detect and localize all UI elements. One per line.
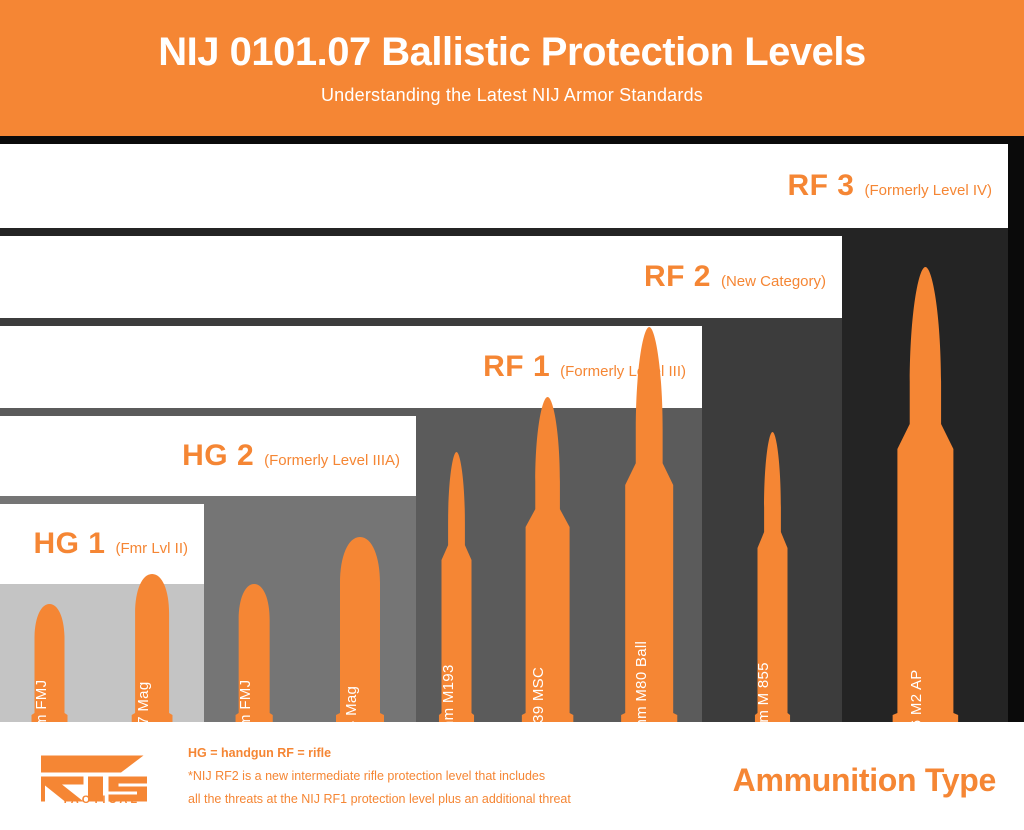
logo-subtext: TACTICAL [36,794,166,806]
bullet-hg1-0: 9mm FMJ [28,604,71,722]
bullet-hg1-1: .357 Mag [128,574,176,722]
bullet-rf1-2: 7.62x51mm M80 Ball [616,327,682,722]
top-divider-band [0,136,1024,144]
bullet-rf3-0: 30.06 M2 AP [887,267,964,722]
bullet-rf2-0: 5.56mm M 855 [751,432,794,722]
bullet-rf1-1: 7.62x39 MSC [517,397,578,722]
right-gutter [1008,136,1024,722]
bullet-group-rf1: 5.56mm M1937.62x39 MSC7.62x51mm M80 Ball [416,136,702,722]
header-banner: NIJ 0101.07 Ballistic Protection Levels … [0,0,1024,136]
legend-note-line-2: all the threats at the NIJ RF1 protectio… [188,788,571,811]
legend-block: HG = handgun RF = rifle *NIJ RF2 is a ne… [188,742,571,811]
x-axis-title: Ammunition Type [733,762,996,799]
legend-abbreviations: HG = handgun RF = rifle [188,742,571,765]
legend-note-line-1: *NIJ RF2 is a new intermediate rifle pro… [188,765,571,788]
page-subtitle: Understanding the Latest NIJ Armor Stand… [321,85,703,106]
ballistic-levels-chart: RF 3(Formerly Level IV)RF 2(New Category… [0,136,1024,722]
bullet-group-rf2: 5.56mm M 855 [702,136,842,722]
bullet-rf1-0: 5.56mm M193 [435,452,478,722]
bullet-group-hg1: 9mm FMJ.357 Mag [0,136,204,722]
footer: TACTICAL HG = handgun RF = rifle *NIJ RF… [0,722,1024,830]
bullet-hg2-0: 9mm FMJ [232,584,276,722]
page-title: NIJ 0101.07 Ballistic Protection Levels [158,31,866,73]
bullet-group-rf3: 30.06 M2 AP [842,136,1008,722]
bullet-group-hg2: 9mm FMJ.44 Mag [204,136,416,722]
bullet-hg2-1: .44 Mag [332,537,388,722]
infographic-root: NIJ 0101.07 Ballistic Protection Levels … [0,0,1024,830]
